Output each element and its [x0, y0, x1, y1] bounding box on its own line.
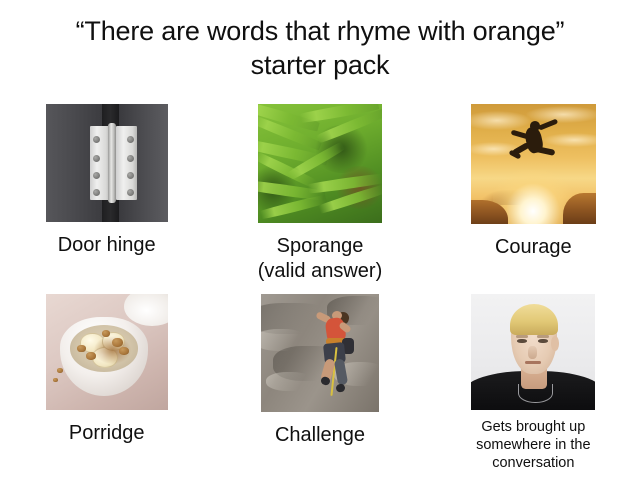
portrait-nose — [528, 346, 537, 359]
portrait-eyebrow — [516, 335, 528, 338]
hinge-barrel — [108, 123, 116, 203]
caption-line: Sporange — [277, 235, 364, 257]
tile-courage: Courage — [427, 104, 640, 294]
tile-caption: Courage — [495, 235, 572, 260]
tile-eminem: Gets brought up somewhere in the convers… — [427, 294, 640, 494]
caption-line: somewhere in the — [476, 437, 590, 453]
portrait-eyebrow — [537, 335, 549, 338]
caption-line: (valid answer) — [258, 260, 382, 282]
door-hinge-image — [46, 104, 168, 222]
tile-caption: Door hinge — [58, 233, 156, 258]
silhouette-arm-up — [538, 118, 559, 130]
portrait-ear — [551, 336, 560, 351]
nut-topping — [77, 345, 86, 352]
title-line-2: starter pack — [0, 48, 640, 82]
title-line-1: “There are words that rhyme with orange” — [0, 14, 640, 48]
starter-pack-grid: Door hinge Sporange — [0, 104, 640, 494]
climber-leg-lower — [333, 359, 348, 387]
tile-challenge: Challenge — [213, 294, 426, 494]
nut-topping — [102, 330, 111, 337]
tile-door-hinge: Door hinge — [0, 104, 213, 294]
nut-topping — [112, 338, 123, 347]
porridge-image — [46, 294, 168, 410]
rock-highlight — [266, 372, 313, 391]
meme-image: “There are words that rhyme with orange”… — [0, 0, 640, 504]
caption-line: Challenge — [275, 424, 365, 446]
silhouette-leg-front — [535, 146, 555, 155]
caption-line: conversation — [492, 455, 574, 471]
rock-highlight — [261, 329, 308, 350]
caption-line: Courage — [495, 236, 572, 258]
tile-sporange: Sporange (valid answer) — [213, 104, 426, 294]
climber-image — [261, 294, 379, 412]
portrait-mouth — [525, 361, 541, 364]
fern-image — [258, 104, 382, 223]
tile-porridge: Porridge — [0, 294, 213, 494]
rock-climber — [313, 311, 360, 398]
caption-line: Gets brought up — [481, 419, 585, 435]
nut-topping — [119, 347, 129, 355]
climbing-shoe — [335, 383, 346, 393]
crumb — [53, 378, 58, 383]
caption-line: Porridge — [69, 422, 145, 444]
tile-caption: Challenge — [275, 423, 365, 448]
nut-topping — [86, 352, 96, 360]
page-title: “There are words that rhyme with orange”… — [0, 14, 640, 82]
courage-image — [471, 104, 596, 224]
hinge-screw — [93, 155, 100, 162]
jumping-silhouette — [506, 118, 566, 180]
necklace-chain — [518, 384, 552, 404]
blonde-hair — [510, 304, 558, 334]
tile-caption: Sporange (valid answer) — [258, 234, 382, 284]
crumb — [57, 368, 63, 373]
caption-line: Door hinge — [58, 234, 156, 256]
tile-caption: Porridge — [69, 421, 145, 446]
tile-caption: Gets brought up somewhere in the convers… — [476, 418, 590, 472]
portrait-image — [471, 294, 595, 410]
